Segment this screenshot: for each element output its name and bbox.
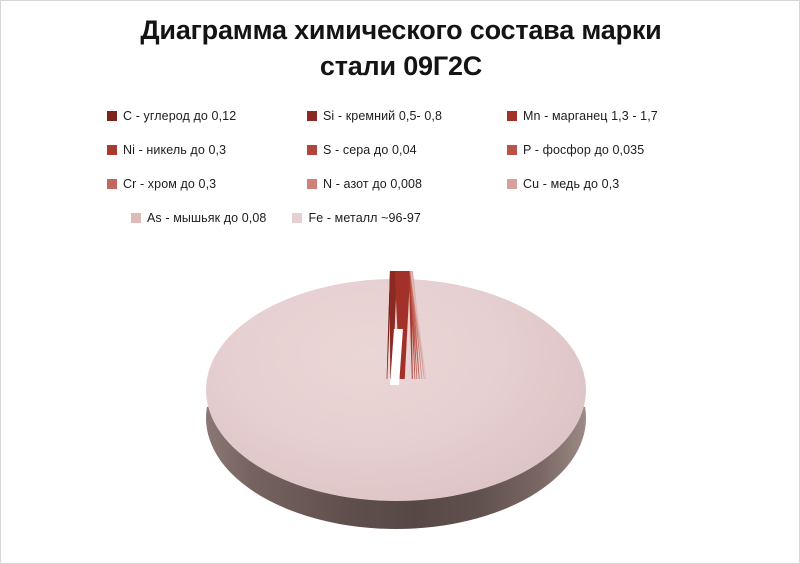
legend-item[interactable]: Cu - медь до 0,3 [507,177,707,191]
legend-item-label: As - мышьяк до 0,08 [147,211,266,225]
legend-color-swatch-icon [292,213,302,223]
legend-color-swatch-icon [507,179,517,189]
legend-item[interactable]: Fe - металл ~96-97 [292,211,421,225]
legend-item-label: N - азот до 0,008 [323,177,422,191]
legend-color-swatch-icon [507,111,517,121]
legend-item-label: S - сера до 0,04 [323,143,417,157]
legend-item[interactable]: P - фосфор до 0,035 [507,143,707,157]
legend-color-swatch-icon [307,111,317,121]
legend-item-label: Mn - марганец 1,3 - 1,7 [523,109,658,123]
legend-item[interactable]: Ni - никель до 0,3 [107,143,307,157]
legend-item-label: Cr - хром до 0,3 [123,177,216,191]
legend-item[interactable]: C - углерод до 0,12 [107,109,307,123]
title-line-1: Диаграмма химического состава марки [61,13,741,49]
title-line-2: стали 09Г2С [61,49,741,85]
legend-row: As - мышьяк до 0,08Fe - металл ~96-97 [107,211,707,245]
legend-color-swatch-icon [131,213,141,223]
legend-item-label: Ni - никель до 0,3 [123,143,226,157]
legend-row: Ni - никель до 0,3S - сера до 0,04P - фо… [107,143,707,177]
pie-chart [206,269,588,531]
legend-item-label: Si - кремний 0,5- 0,8 [323,109,442,123]
legend-color-swatch-icon [107,145,117,155]
legend-color-swatch-icon [307,145,317,155]
pie-trace-element-slices [374,269,434,379]
legend-item[interactable]: As - мышьяк до 0,08 [131,211,266,225]
legend-color-swatch-icon [307,179,317,189]
legend-item-label: Fe - металл ~96-97 [308,211,421,225]
chart-canvas: Диаграмма химического состава марки стал… [0,0,800,564]
chart-legend: C - углерод до 0,12Si - кремний 0,5- 0,8… [107,109,707,245]
legend-color-swatch-icon [507,145,517,155]
legend-item[interactable]: S - сера до 0,04 [307,143,507,157]
legend-item-label: C - углерод до 0,12 [123,109,236,123]
legend-color-swatch-icon [107,111,117,121]
legend-item[interactable]: N - азот до 0,008 [307,177,507,191]
legend-row: C - углерод до 0,12Si - кремний 0,5- 0,8… [107,109,707,143]
legend-item[interactable]: Si - кремний 0,5- 0,8 [307,109,507,123]
legend-item[interactable]: Mn - марганец 1,3 - 1,7 [507,109,707,123]
legend-item-label: Cu - медь до 0,3 [523,177,619,191]
legend-item[interactable]: Cr - хром до 0,3 [107,177,307,191]
legend-row: Cr - хром до 0,3N - азот до 0,008Cu - ме… [107,177,707,211]
legend-item-label: P - фосфор до 0,035 [523,143,644,157]
page-title: Диаграмма химического состава марки стал… [61,13,741,85]
legend-color-swatch-icon [107,179,117,189]
